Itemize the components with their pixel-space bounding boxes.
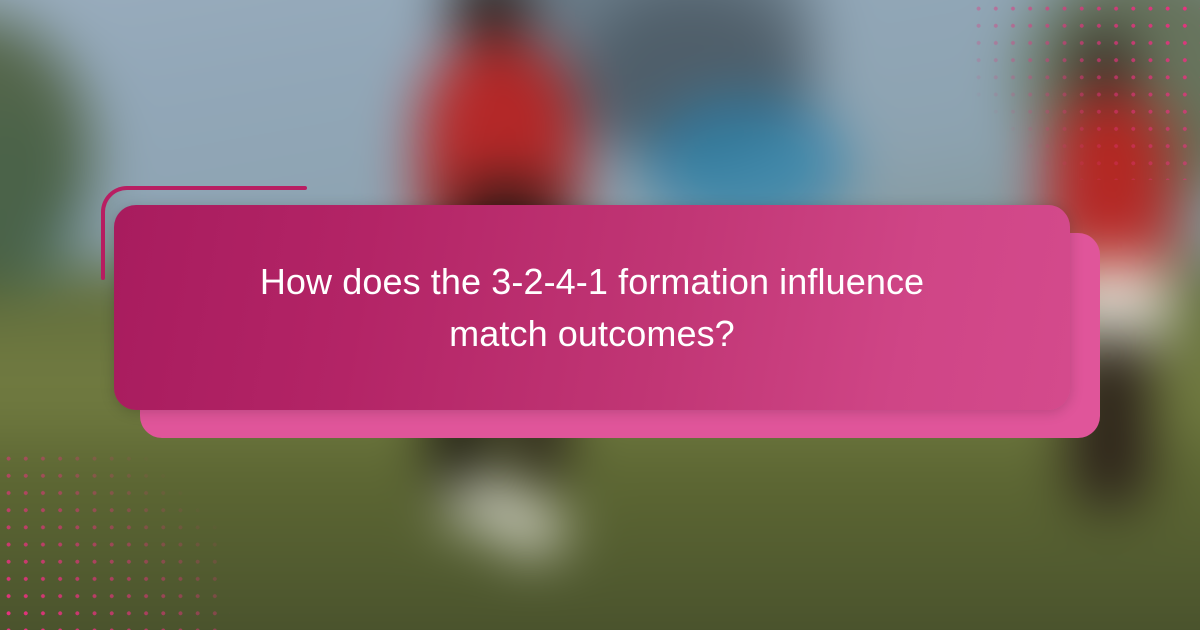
bracket-cap-right xyxy=(303,186,307,190)
bracket-cap-bottom xyxy=(101,276,105,280)
headline-line-2: match outcomes? xyxy=(240,308,944,359)
headline-line-1: How does the 3-2-4-1 formation influence xyxy=(240,256,944,307)
page-title: How does the 3-2-4-1 formation influence… xyxy=(232,256,952,358)
soccer-ball xyxy=(503,502,563,554)
headline-card: How does the 3-2-4-1 formation influence… xyxy=(114,205,1070,410)
social-card-canvas: How does the 3-2-4-1 formation influence… xyxy=(0,0,1200,630)
